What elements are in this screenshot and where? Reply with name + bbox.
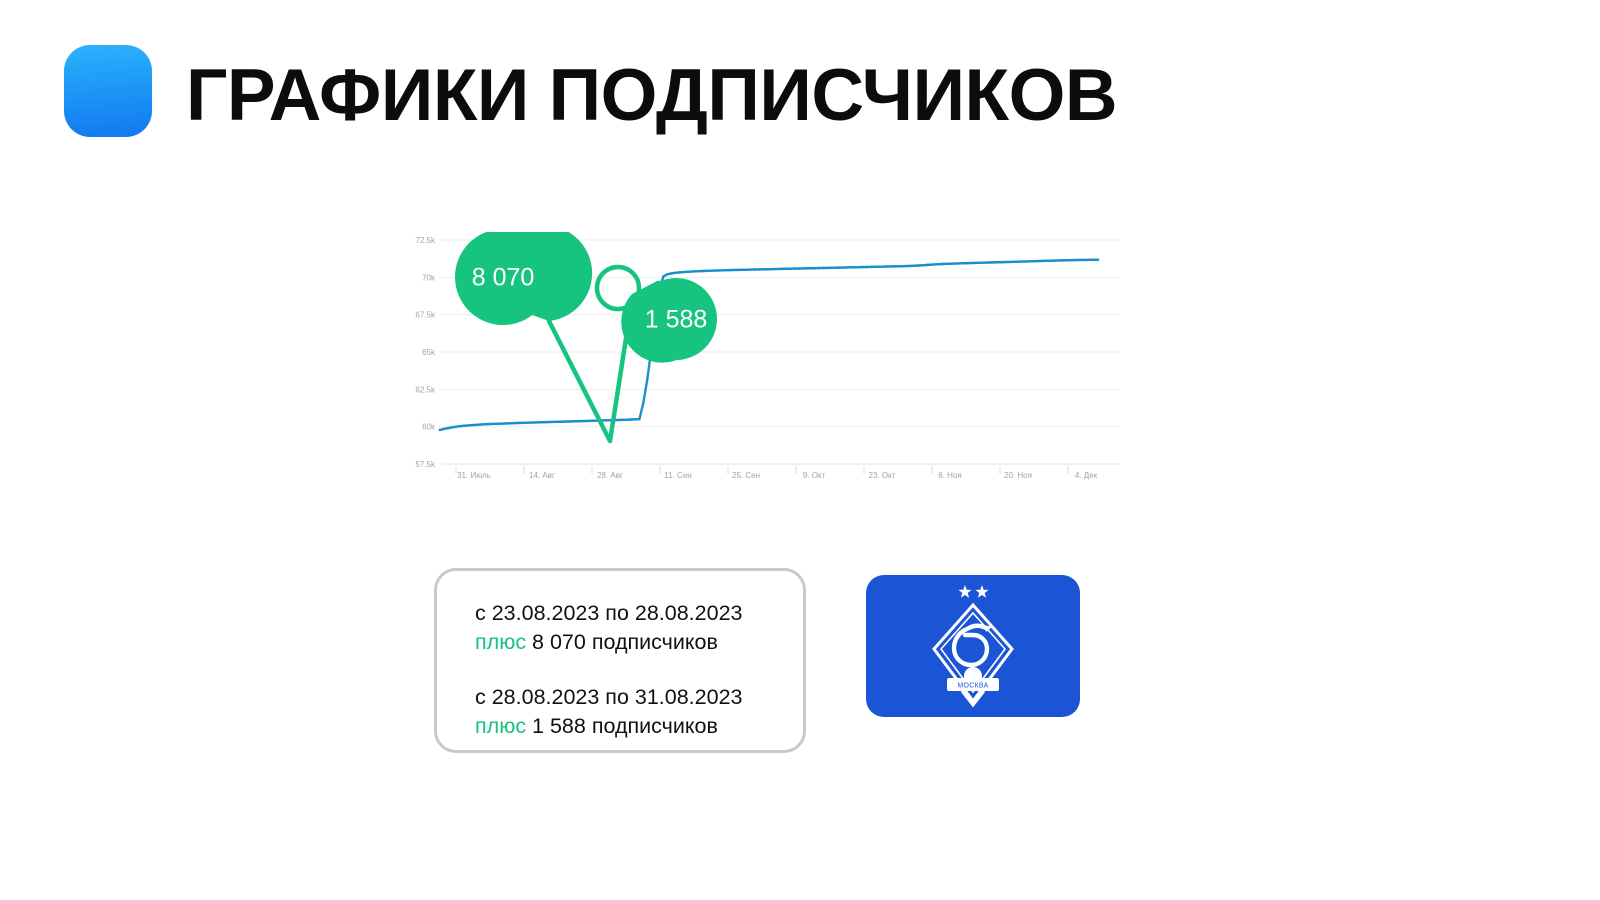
data-point-marker xyxy=(562,420,564,422)
data-point-marker xyxy=(626,419,628,421)
data-point-marker xyxy=(945,263,947,265)
data-point-marker xyxy=(1025,260,1027,262)
chart-y-axis-labels: 72.5k70k67.5k65k62.5k60k57.5k xyxy=(415,236,436,469)
data-point-marker xyxy=(511,422,513,424)
data-point-marker xyxy=(1001,261,1003,263)
x-axis-tick-label: 4. Дек xyxy=(1075,471,1098,480)
data-point-marker xyxy=(682,271,684,273)
data-point-marker xyxy=(913,265,915,267)
data-point-marker xyxy=(977,262,979,264)
data-point-marker xyxy=(858,266,860,268)
y-axis-tick-label: 70k xyxy=(422,273,436,282)
data-point-marker xyxy=(1073,259,1075,261)
data-point-marker xyxy=(710,270,712,272)
data-point-marker xyxy=(842,266,844,268)
summary-value: 1 588 xyxy=(532,714,586,738)
data-point-marker xyxy=(854,266,856,268)
data-point-marker xyxy=(467,424,469,426)
data-point-marker xyxy=(670,272,672,274)
data-point-marker xyxy=(726,269,728,271)
data-point-marker xyxy=(981,262,983,264)
data-point-marker xyxy=(463,425,465,427)
letter-d-glyph xyxy=(954,625,992,665)
data-point-marker xyxy=(850,266,852,268)
data-point-marker xyxy=(722,269,724,271)
data-point-marker xyxy=(734,269,736,271)
page-title: ГРАФИКИ ПОДПИСЧИКОВ xyxy=(186,54,1117,138)
data-point-marker xyxy=(1017,261,1019,263)
data-point-marker xyxy=(897,265,899,267)
data-point-marker xyxy=(834,267,836,269)
data-point-marker xyxy=(1045,260,1047,262)
data-point-marker xyxy=(678,271,680,273)
data-point-marker xyxy=(690,270,692,272)
data-point-marker xyxy=(794,267,796,269)
data-point-marker xyxy=(535,421,537,423)
data-point-marker xyxy=(523,422,525,424)
summary-date-range: с 23.08.2023 по 28.08.2023 xyxy=(475,599,803,628)
chart-x-axis-labels: 31. Июль14. Авг28. Авг11. Сен25. Сен9. О… xyxy=(457,471,1098,480)
data-point-marker xyxy=(730,269,732,271)
data-point-marker xyxy=(1089,259,1091,261)
data-point-marker xyxy=(594,420,596,422)
data-point-marker xyxy=(586,420,588,422)
summary-value: 8 070 xyxy=(532,630,586,654)
data-point-marker xyxy=(742,269,744,271)
data-point-marker xyxy=(702,270,704,272)
data-point-marker xyxy=(1085,259,1087,261)
club-emblem-icon: МОСКВА xyxy=(866,575,1080,717)
data-point-marker xyxy=(551,421,553,423)
data-point-marker xyxy=(1033,260,1035,262)
summary-date-range: с 28.08.2023 по 31.08.2023 xyxy=(475,683,803,712)
x-axis-tick-label: 9. Окт xyxy=(803,471,826,480)
city-label: МОСКВА xyxy=(957,683,988,690)
data-point-marker xyxy=(491,423,493,425)
y-axis-tick-label: 62.5k xyxy=(415,385,436,394)
y-axis-tick-label: 72.5k xyxy=(415,236,436,245)
data-point-marker xyxy=(558,421,560,423)
data-point-marker xyxy=(762,268,764,270)
data-point-marker xyxy=(1057,259,1059,261)
dynamo-moscow-logo: МОСКВА xyxy=(866,575,1080,717)
data-point-marker xyxy=(630,418,632,420)
x-axis-tick-label: 6. Ноя xyxy=(938,471,961,480)
data-point-marker xyxy=(802,267,804,269)
data-point-marker xyxy=(531,421,533,423)
data-point-marker xyxy=(1097,259,1099,261)
data-point-marker xyxy=(874,266,876,268)
data-point-marker xyxy=(1029,260,1031,262)
data-point-marker xyxy=(933,263,935,265)
data-point-marker xyxy=(479,423,481,425)
data-point-marker xyxy=(961,262,963,264)
data-point-marker xyxy=(905,265,907,267)
x-axis-tick-label: 28. Авг xyxy=(597,471,623,480)
data-point-marker xyxy=(539,421,541,423)
page-header: ГРАФИКИ ПОДПИСЧИКОВ xyxy=(0,0,1600,180)
data-point-marker xyxy=(770,268,772,270)
star-icon xyxy=(958,585,971,598)
data-point-marker xyxy=(997,261,999,263)
data-point-marker xyxy=(925,264,927,266)
data-point-marker xyxy=(870,266,872,268)
data-point-marker xyxy=(519,422,521,424)
data-point-marker xyxy=(1049,260,1051,262)
y-axis-tick-label: 67.5k xyxy=(415,311,436,320)
data-point-marker xyxy=(1005,261,1007,263)
data-point-marker xyxy=(846,266,848,268)
data-point-marker xyxy=(822,267,824,269)
data-point-marker xyxy=(606,419,608,421)
data-point-marker xyxy=(1053,259,1055,261)
summary-delta: плюс 1 588 подписчиков xyxy=(475,712,803,741)
data-point-marker xyxy=(618,419,620,421)
data-point-marker xyxy=(543,421,545,423)
data-point-marker xyxy=(989,261,991,263)
data-point-marker xyxy=(766,268,768,270)
data-point-marker xyxy=(590,420,592,422)
x-axis-tick-label: 31. Июль xyxy=(457,471,491,480)
data-point-marker xyxy=(893,265,895,267)
summary-block: с 23.08.2023 по 28.08.2023 плюс 8 070 по… xyxy=(475,599,803,657)
y-axis-tick-label: 65k xyxy=(422,348,436,357)
data-point-marker xyxy=(1081,259,1083,261)
data-point-marker xyxy=(985,261,987,263)
data-point-marker xyxy=(798,267,800,269)
data-point-marker xyxy=(487,423,489,425)
x-axis-tick-label: 23. Окт xyxy=(869,471,896,480)
data-point-marker xyxy=(830,267,832,269)
data-point-marker xyxy=(965,262,967,264)
data-point-marker xyxy=(566,420,568,422)
data-point-marker xyxy=(786,268,788,270)
data-point-marker xyxy=(718,269,720,271)
data-point-marker xyxy=(1065,259,1067,261)
data-point-marker xyxy=(818,267,820,269)
data-point-marker xyxy=(1037,260,1039,262)
data-point-marker xyxy=(1077,259,1079,261)
data-point-marker xyxy=(622,419,624,421)
data-point-marker xyxy=(1093,259,1095,261)
data-point-marker xyxy=(638,418,640,420)
data-point-marker xyxy=(1013,261,1015,263)
data-point-marker xyxy=(889,265,891,267)
data-point-marker xyxy=(806,267,808,269)
data-point-marker xyxy=(750,268,752,270)
data-point-marker xyxy=(778,268,780,270)
subscribers-chart: 72.5k70k67.5k65k62.5k60k57.5k 31. Июль14… xyxy=(398,232,1128,502)
summary-unit: подписчиков xyxy=(592,630,718,654)
data-point-marker xyxy=(754,268,756,270)
data-point-marker xyxy=(993,261,995,263)
data-point-marker xyxy=(810,267,812,269)
annotation-8070: 8 070 xyxy=(455,232,592,325)
annotation-1588-label: 1 588 xyxy=(645,306,708,334)
data-point-marker xyxy=(634,418,636,420)
chart-canvas: 72.5k70k67.5k65k62.5k60k57.5k 31. Июль14… xyxy=(398,232,1128,502)
data-point-marker xyxy=(866,266,868,268)
data-point-marker xyxy=(642,402,644,404)
annotation-1588: 1 588 xyxy=(621,278,717,363)
x-axis-tick-label: 14. Авг xyxy=(529,471,555,480)
data-point-marker xyxy=(515,422,517,424)
data-point-marker xyxy=(503,422,505,424)
data-point-marker xyxy=(706,270,708,272)
data-point-marker xyxy=(471,424,473,426)
data-point-marker xyxy=(758,268,760,270)
data-point-marker xyxy=(826,267,828,269)
data-point-marker xyxy=(782,268,784,270)
data-point-marker xyxy=(953,262,955,264)
data-point-marker xyxy=(555,421,557,423)
data-point-marker xyxy=(475,424,477,426)
data-point-marker xyxy=(547,421,549,423)
data-point-marker xyxy=(882,265,884,267)
x-axis-tick-label: 20. Ноя xyxy=(1004,471,1032,480)
y-axis-tick-label: 57.5k xyxy=(415,460,436,469)
data-point-marker xyxy=(666,273,668,275)
annotation-8070-label: 8 070 xyxy=(472,264,535,292)
data-point-marker xyxy=(921,264,923,266)
data-point-marker xyxy=(774,268,776,270)
data-point-marker xyxy=(439,429,441,431)
data-point-marker xyxy=(746,269,748,271)
data-point-marker xyxy=(574,420,576,422)
star-icon xyxy=(975,585,988,598)
data-point-marker xyxy=(1009,261,1011,263)
data-point-marker xyxy=(949,263,951,265)
data-point-marker xyxy=(495,423,497,425)
data-point-marker xyxy=(917,264,919,266)
data-point-marker xyxy=(1021,260,1023,262)
data-point-marker xyxy=(885,265,887,267)
summary-delta: плюс 8 070 подписчиков xyxy=(475,628,803,657)
data-point-marker xyxy=(738,269,740,271)
data-point-marker xyxy=(838,266,840,268)
data-point-marker xyxy=(578,420,580,422)
summary-block: с 28.08.2023 по 31.08.2023 плюс 1 588 по… xyxy=(475,683,803,741)
data-point-marker xyxy=(451,426,453,428)
data-point-marker xyxy=(941,263,943,265)
data-point-marker xyxy=(527,422,529,424)
summary-unit: подписчиков xyxy=(592,714,718,738)
data-point-marker xyxy=(646,378,648,380)
data-point-marker xyxy=(1041,260,1043,262)
data-point-marker xyxy=(694,270,696,272)
data-point-marker xyxy=(459,425,461,427)
data-point-marker xyxy=(698,270,700,272)
data-point-marker xyxy=(570,420,572,422)
data-point-marker xyxy=(443,428,445,430)
x-axis-tick-label: 25. Сен xyxy=(732,471,760,480)
summary-card: с 23.08.2023 по 28.08.2023 плюс 8 070 по… xyxy=(434,568,806,753)
data-point-marker xyxy=(969,262,971,264)
app-square-icon xyxy=(64,45,152,137)
data-point-marker xyxy=(483,423,485,425)
summary-plus-word: плюс xyxy=(475,714,526,738)
data-point-marker xyxy=(929,264,931,266)
data-point-marker xyxy=(455,426,457,428)
data-point-marker xyxy=(790,268,792,270)
summary-plus-word: плюс xyxy=(475,630,526,654)
data-point-marker xyxy=(814,267,816,269)
data-point-marker xyxy=(674,272,676,274)
y-axis-tick-label: 60k xyxy=(422,423,436,432)
data-point-marker xyxy=(957,262,959,264)
data-point-marker xyxy=(507,422,509,424)
data-point-marker xyxy=(499,423,501,425)
data-point-marker xyxy=(582,420,584,422)
data-point-marker xyxy=(686,271,688,273)
data-point-marker xyxy=(602,419,604,421)
data-point-marker xyxy=(1061,259,1063,261)
data-point-marker xyxy=(662,275,664,277)
data-point-marker xyxy=(973,262,975,264)
data-point-marker xyxy=(862,266,864,268)
data-point-marker xyxy=(909,265,911,267)
data-point-marker xyxy=(901,265,903,267)
data-point-marker xyxy=(714,269,716,271)
data-point-marker xyxy=(1069,259,1071,261)
data-point-marker xyxy=(447,427,449,429)
x-axis-tick-label: 11. Сен xyxy=(664,471,691,480)
data-point-marker xyxy=(878,266,880,268)
data-point-marker xyxy=(937,263,939,265)
